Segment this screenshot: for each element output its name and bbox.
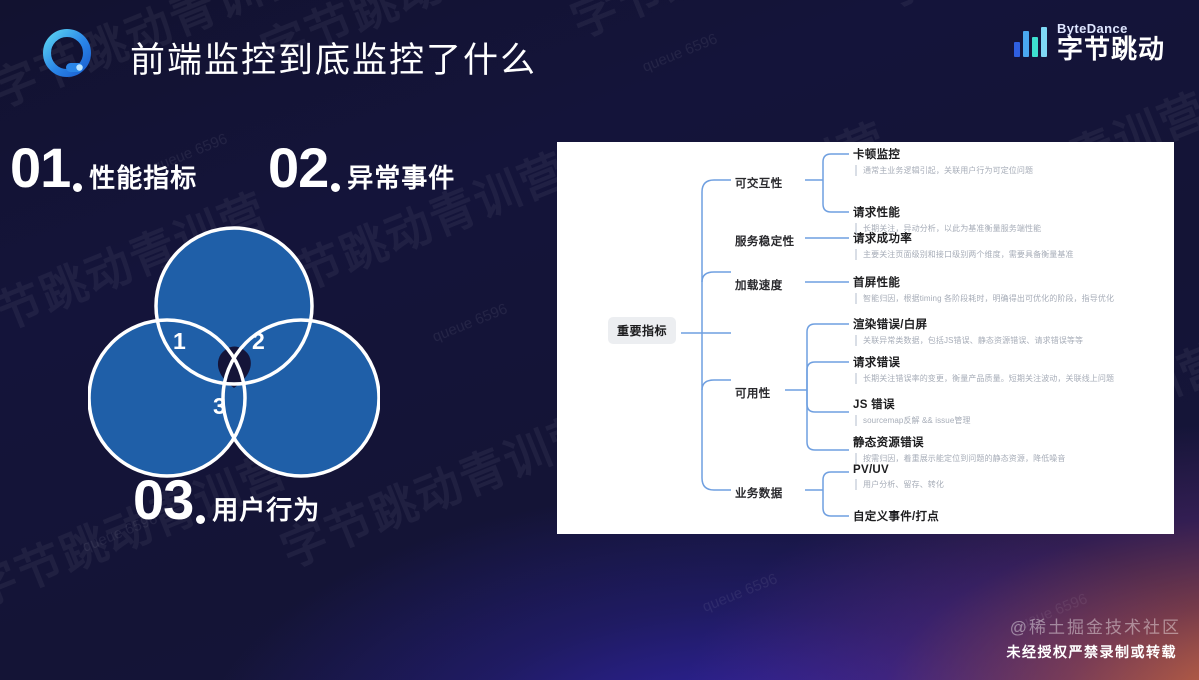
mindmap-leaf-pv-uv[interactable]: PV/UV 用户分析、留存、转化 bbox=[853, 464, 944, 490]
mindmap-root-node[interactable]: 重要指标 bbox=[608, 317, 676, 344]
topic-item-02: 02 异常事件 bbox=[268, 140, 455, 196]
juejin-ring-logo-icon bbox=[40, 27, 94, 81]
leaf-desc: 通常主业务逻辑引起，关联用户行为可定位问题 bbox=[855, 165, 1033, 176]
leaf-desc: 智能归因，根据timing 各阶段耗时，明确得出可优化的阶段，指导优化 bbox=[855, 293, 1114, 304]
topic-number: 02 bbox=[268, 140, 328, 196]
leaf-desc: 用户分析、留存、转化 bbox=[855, 479, 944, 490]
mindmap-branch-load-speed[interactable]: 加载速度 bbox=[735, 277, 783, 293]
leaf-desc: 长期关注错误率的变更，衡量产品质量。短期关注波动，关联线上问题 bbox=[855, 373, 1114, 384]
venn-diagram: 1 2 3 bbox=[88, 218, 380, 486]
leaf-title: 渲染错误/白屏 bbox=[853, 316, 1083, 332]
mindmap-branch-availability[interactable]: 可用性 bbox=[735, 385, 771, 401]
topic-label: 异常事件 bbox=[347, 158, 455, 195]
mindmap-leaf-render-error[interactable]: 渲染错误/白屏 关联异常类数据，包括JS错误、静态资源错误、请求错误等等 bbox=[853, 316, 1083, 346]
mindmap-leaf-first-screen-performance[interactable]: 首屏性能 智能归因，根据timing 各阶段耗时，明确得出可优化的阶段，指导优化 bbox=[853, 274, 1114, 304]
mindmap-branch-service-stability[interactable]: 服务稳定性 bbox=[735, 233, 795, 249]
topic-dot-icon bbox=[331, 183, 340, 192]
topic-label: 性能指标 bbox=[89, 158, 197, 195]
slide-root: 字节跳动青训营 字节跳动青训营 字节跳动青训营 字节跳动青训营 字节跳动青训营 … bbox=[0, 0, 1199, 680]
topic-label: 用户行为 bbox=[212, 490, 320, 527]
leaf-desc: 关联异常类数据，包括JS错误、静态资源错误、请求错误等等 bbox=[855, 335, 1083, 346]
mindmap-leaf-request-success-rate[interactable]: 请求成功率 主要关注页面级别和接口级别两个维度，需要具备衡量基准 bbox=[853, 230, 1074, 260]
brand-name-cn: 字节跳动 bbox=[1057, 36, 1165, 63]
leaf-desc: 按需归因，着重展示能定位到问题的静态资源，降低噪音 bbox=[855, 453, 1066, 464]
mindmap-leaf-custom-event[interactable]: 自定义事件/打点 bbox=[853, 508, 939, 527]
copyright-notice: 未经授权严禁录制或转载 bbox=[1007, 642, 1178, 662]
leaf-title: 请求成功率 bbox=[853, 230, 1074, 246]
watermark-small: queue 6596 bbox=[700, 570, 780, 615]
venn-region-3: 3 bbox=[213, 393, 226, 420]
mindmap-branch-interactivity[interactable]: 可交互性 bbox=[735, 175, 783, 191]
leaf-title: JS 错误 bbox=[853, 396, 971, 412]
leaf-title: 自定义事件/打点 bbox=[853, 508, 939, 524]
venn-region-1: 1 bbox=[173, 328, 186, 355]
mindmap-leaf-static-resource-error[interactable]: 静态资源错误 按需归因，着重展示能定位到问题的静态资源，降低噪音 bbox=[853, 434, 1066, 464]
mindmap-panel: 重要指标 可交互性 服务稳定性 加载速度 可用性 业务数据 卡顿监控 通常主业务… bbox=[557, 142, 1174, 534]
topic-dot-icon bbox=[73, 183, 82, 192]
mindmap-leaf-request-error[interactable]: 请求错误 长期关注错误率的变更，衡量产品质量。短期关注波动，关联线上问题 bbox=[853, 354, 1114, 384]
venn-region-2: 2 bbox=[252, 328, 265, 355]
mindmap-leaf-js-error[interactable]: JS 错误 sourcemap反解 && issue管理 bbox=[853, 396, 971, 426]
page-title: 前端监控到底监控了什么 bbox=[130, 32, 537, 83]
watermark-small: queue 6596 bbox=[430, 300, 510, 345]
leaf-title: 请求错误 bbox=[853, 354, 1114, 370]
topic-number: 01 bbox=[10, 140, 70, 196]
leaf-title: 卡顿监控 bbox=[853, 146, 1033, 162]
slide-header: 前端监控到底监控了什么 ByteDance 字节跳动 bbox=[0, 0, 1199, 100]
leaf-desc: 主要关注页面级别和接口级别两个维度，需要具备衡量基准 bbox=[855, 249, 1074, 260]
bytedance-brand: ByteDance 字节跳动 bbox=[1014, 22, 1165, 63]
leaf-title: 静态资源错误 bbox=[853, 434, 1066, 450]
mindmap-leaf-lag-monitor[interactable]: 卡顿监控 通常主业务逻辑引起，关联用户行为可定位问题 bbox=[853, 146, 1033, 176]
mindmap-branch-business-data[interactable]: 业务数据 bbox=[735, 485, 783, 501]
topic-item-01: 01 性能指标 bbox=[10, 140, 197, 196]
community-watermark: @稀土掘金技术社区 bbox=[1010, 613, 1181, 638]
leaf-title: 请求性能 bbox=[853, 204, 1041, 220]
topic-dot-icon bbox=[196, 515, 205, 524]
leaf-title: 首屏性能 bbox=[853, 274, 1114, 290]
leaf-title: PV/UV bbox=[853, 464, 944, 476]
bytedance-bars-icon bbox=[1014, 27, 1047, 57]
leaf-desc: sourcemap反解 && issue管理 bbox=[855, 415, 971, 426]
